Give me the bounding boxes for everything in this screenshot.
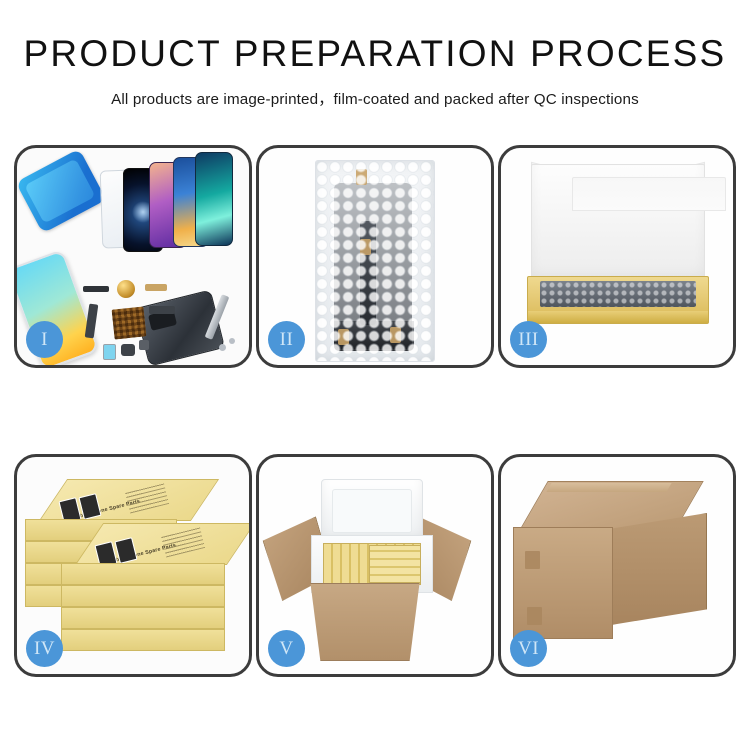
step-badge-5: V (268, 630, 305, 667)
speaker-mesh-icon (83, 286, 109, 292)
step-panel-2: II (256, 145, 494, 368)
phone-screen-teal-icon (195, 152, 233, 246)
retail-box-icon (61, 585, 225, 607)
step-panel-1: I (14, 145, 252, 368)
sim-tray-icon (139, 340, 149, 350)
screw-icon (229, 338, 235, 344)
step-badge-4: IV (26, 630, 63, 667)
carton-body-icon (303, 583, 427, 661)
step-badge-1: I (26, 321, 63, 358)
flex-cable-icon (85, 304, 99, 339)
header: PRODUCT PREPARATION PROCESS All products… (0, 0, 750, 109)
kraft-box-tray-icon (527, 276, 709, 324)
step-panel-4: Mobile Phone Spare Parts Mobile Phone Sp… (14, 454, 252, 677)
foam-lid-icon (321, 479, 423, 543)
small-component-icon (121, 344, 135, 356)
page-subtitle: All products are image-printed，film-coat… (0, 87, 750, 109)
product-preparation-infographic: PRODUCT PREPARATION PROCESS All products… (0, 0, 750, 750)
page-title: PRODUCT PREPARATION PROCESS (0, 34, 750, 75)
step-panel-6: VI (498, 454, 736, 677)
chip-board-icon (112, 306, 147, 339)
inner-retail-boxes-icon (369, 545, 421, 583)
step-panel-3: III (498, 145, 736, 368)
screw-icon (219, 344, 226, 351)
bubble-texture-overlay (316, 161, 434, 361)
retail-box-icon (61, 563, 225, 585)
packing-tape-icon (546, 483, 671, 492)
step-badge-3: III (510, 321, 547, 358)
bubble-wrap-bag-icon (315, 160, 435, 362)
retail-box-icon (61, 607, 225, 629)
camera-module-icon (103, 344, 116, 360)
step-badge-2: II (268, 321, 305, 358)
carton-tab-icon (527, 607, 542, 625)
flex-connector-icon (149, 306, 175, 314)
white-box-lid-icon (531, 164, 705, 284)
retail-box-icon (61, 629, 225, 651)
tray-front-lip (528, 311, 708, 323)
bubble-padding-icon (540, 281, 696, 307)
step-panel-5: V (256, 454, 494, 677)
process-steps-grid: I II (14, 145, 736, 677)
step-badge-6: VI (510, 630, 547, 667)
lid-inner-panel (572, 177, 726, 211)
vibration-motor-icon (117, 280, 135, 298)
carton-tab-icon (525, 551, 540, 569)
gold-contact-icon (145, 284, 167, 291)
phone-back-cover-blue-icon (17, 148, 106, 233)
carton-side-face-icon (611, 513, 707, 625)
